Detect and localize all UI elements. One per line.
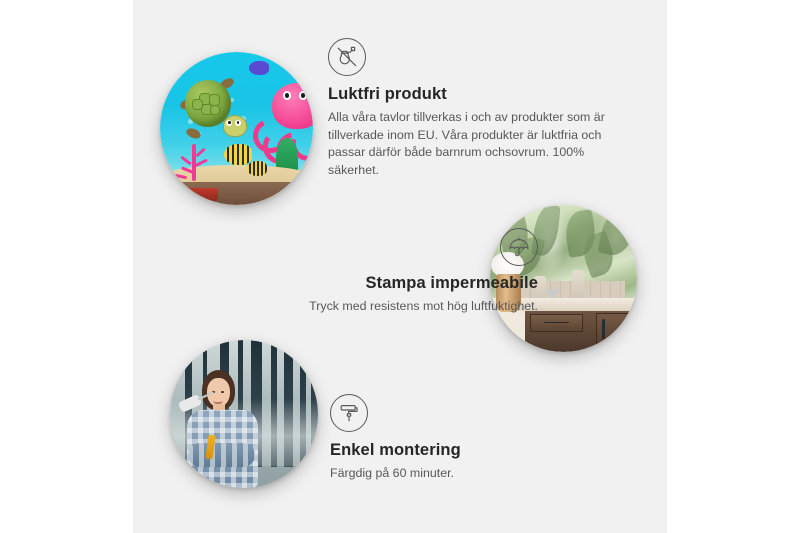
photo-ocean[interactable]	[160, 52, 313, 205]
no-spray-bottle-icon	[328, 38, 366, 76]
photo-ocean-inner	[160, 52, 313, 205]
vanity-cabinet	[525, 311, 637, 352]
feature-waterproof-icon-wrap	[208, 228, 538, 266]
feature-odorless-icon-wrap	[328, 38, 628, 76]
feature-odorless: Luktfri produkt Alla våra tavlor tillver…	[328, 38, 628, 179]
content-panel: Luktfri produkt Alla våra tavlor tillver…	[133, 0, 667, 533]
forest-photo	[170, 340, 318, 488]
woman-with-roller	[182, 370, 265, 488]
feature-easy-mounting-description: Färgdig på 60 minuter.	[330, 465, 630, 483]
turtle-illustration	[180, 78, 244, 139]
feature-odorless-title: Luktfri produkt	[328, 85, 628, 104]
feature-waterproof: Stampa impermeabile Tryck med resistens …	[208, 228, 538, 316]
feature-odorless-description: Alla våra tavlor tillverkas i och av pro…	[328, 109, 618, 179]
fish-yellow-small	[247, 161, 267, 176]
coral-illustration	[172, 135, 218, 181]
feature-waterproof-title: Stampa impermeabile	[208, 274, 538, 293]
ocean-illustration	[160, 52, 313, 205]
feature-easy-mounting: Enkel montering Färgdig på 60 minuter.	[330, 394, 630, 483]
fish-yellow-large	[224, 144, 252, 165]
umbrella-icon	[500, 228, 538, 266]
photo-forest-inner	[170, 340, 318, 488]
cabinet-drawer	[530, 314, 583, 332]
feature-waterproof-description: Tryck med resistens mot hög luftfuktighe…	[208, 298, 538, 316]
foreground-deck	[160, 182, 313, 205]
fish-blue	[249, 61, 269, 75]
feature-easy-mounting-title: Enkel montering	[330, 441, 630, 460]
cabinet-door	[596, 313, 637, 350]
screenshot-root: Luktfri produkt Alla våra tavlor tillver…	[0, 0, 800, 533]
photo-forest[interactable]	[170, 340, 318, 488]
paint-roller-icon	[330, 394, 368, 432]
feature-easy-mounting-icon-wrap	[330, 394, 630, 432]
